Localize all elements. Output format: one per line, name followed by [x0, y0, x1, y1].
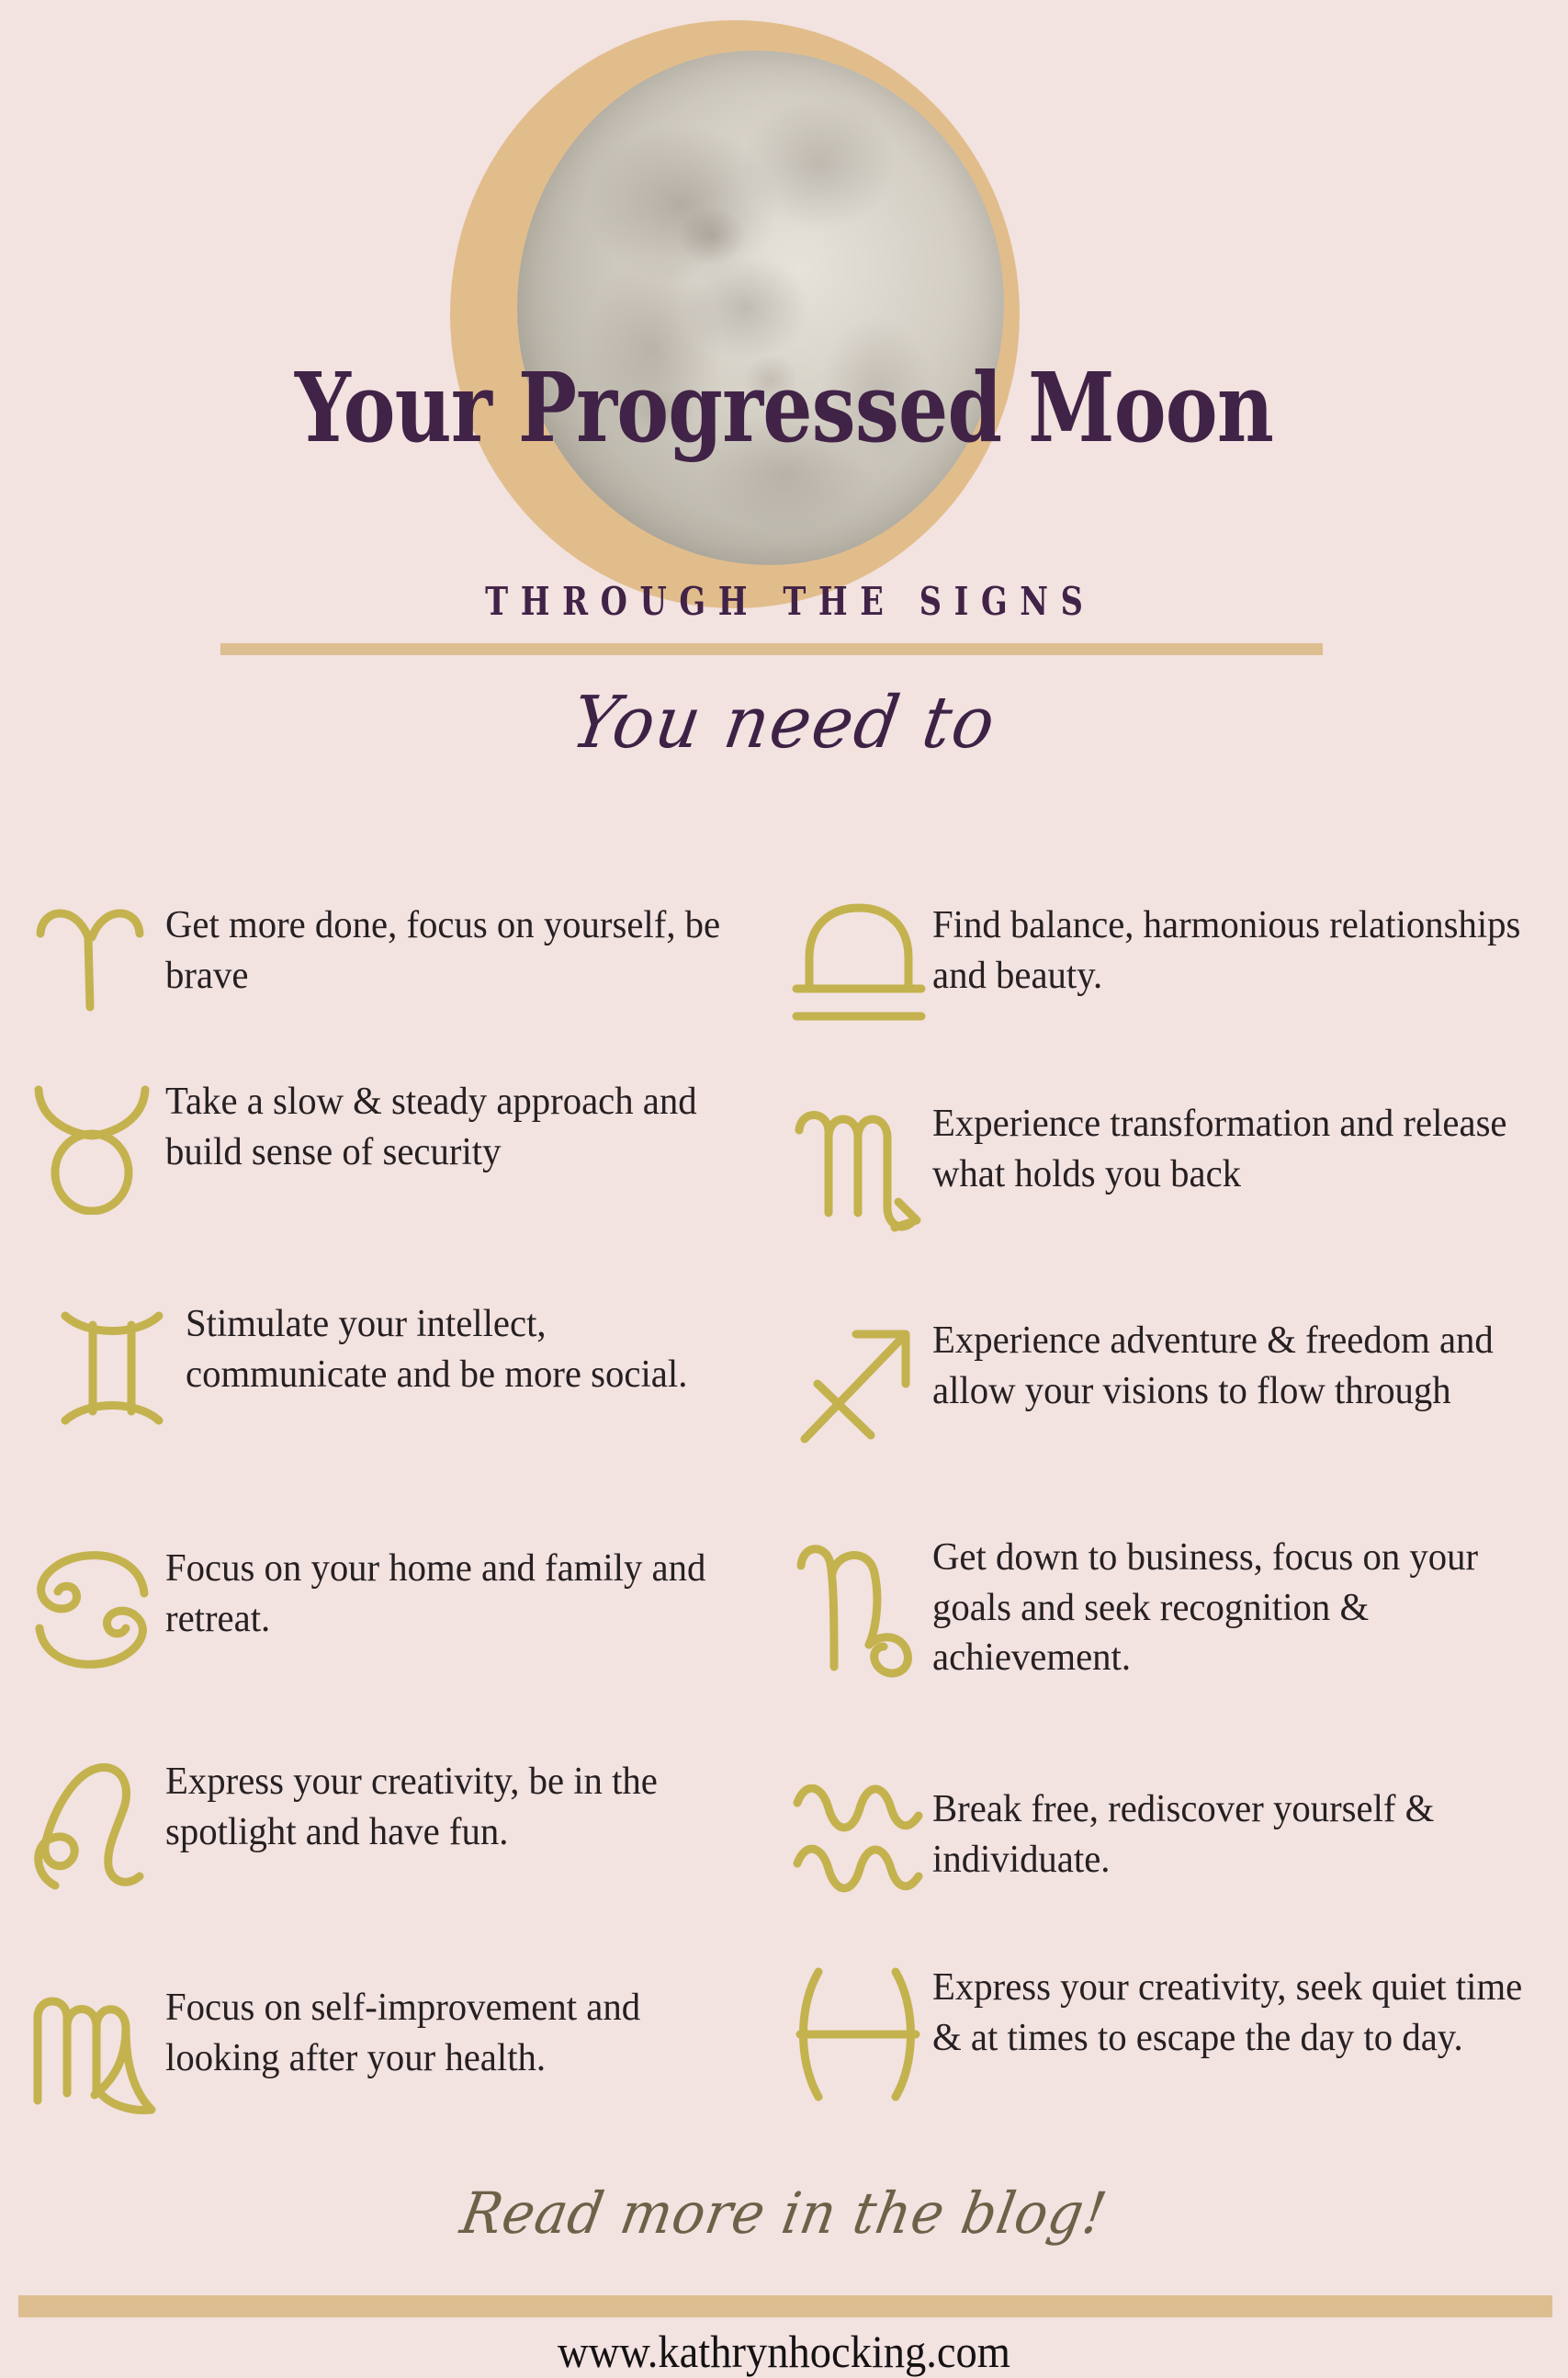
- list-item-label: Break free, rediscover yourself & indivi…: [932, 1784, 1529, 1885]
- aries-icon: [18, 900, 165, 1020]
- leo-icon: [18, 1757, 165, 1904]
- cancer-icon: [18, 1544, 165, 1677]
- list-item-label: Focus on self-improvement and looking af…: [165, 1983, 753, 2083]
- list-item-taurus: Take a slow & steady approach and build …: [18, 1077, 772, 1215]
- page-subtitle: THROUGH THE SIGNS: [157, 579, 1412, 624]
- list-item-pisces: Express your creativity, seek quiet time…: [785, 1963, 1548, 2105]
- list-item-label: Express your creativity, seek quiet time…: [932, 1963, 1529, 2063]
- list-item-scorpio: Experience transformation and release wh…: [785, 1099, 1548, 1246]
- list-item-label: Experience adventure & freedom and allow…: [932, 1316, 1529, 1416]
- pisces-icon: [785, 1963, 932, 2105]
- list-item-sagittarius: Experience adventure & freedom and allow…: [785, 1316, 1548, 1454]
- list-item-label: Experience transformation and release wh…: [932, 1099, 1529, 1199]
- hero-section: Your Progressed Moon THROUGH THE SIGNS Y…: [0, 0, 1568, 643]
- list-item-aquarius: Break free, rediscover yourself & indivi…: [785, 1784, 1548, 1913]
- gemini-icon: [39, 1299, 186, 1437]
- taurus-icon: [18, 1077, 165, 1215]
- list-item-label: Find balance, harmonious relationships a…: [932, 900, 1529, 1001]
- gold-divider: [220, 643, 1323, 655]
- list-item-label: Stimulate your intellect, communicate an…: [186, 1299, 756, 1399]
- sagittarius-icon: [785, 1316, 932, 1454]
- bottom-gold-bar: [18, 2295, 1552, 2317]
- zodiac-grid: Get more done, focus on yourself, be bra…: [0, 900, 1568, 2169]
- list-item-libra: Find balance, harmonious relationships a…: [785, 900, 1548, 1029]
- capricorn-icon: [785, 1533, 932, 1680]
- website-url[interactable]: www.kathrynhocking.com: [55, 2325, 1514, 2378]
- libra-icon: [785, 900, 932, 1029]
- blog-cta-text[interactable]: Read more in the blog!: [41, 2180, 1527, 2247]
- list-item-label: Take a slow & steady approach and build …: [165, 1077, 753, 1177]
- list-item-leo: Express your creativity, be in the spotl…: [18, 1757, 772, 1904]
- list-item-label: Get more done, focus on yourself, be bra…: [165, 900, 753, 1001]
- list-item-virgo: Focus on self-improvement and looking af…: [18, 1983, 772, 2121]
- list-item-label: Express your creativity, be in the spotl…: [165, 1757, 753, 1857]
- scorpio-icon: [785, 1099, 932, 1246]
- footer-section: Read more in the blog! www.kathrynhockin…: [0, 2169, 1568, 2352]
- virgo-icon: [18, 1983, 165, 2121]
- list-item-capricorn: Get down to business, focus on your goal…: [785, 1533, 1548, 1683]
- poster-canvas: Your Progressed Moon THROUGH THE SIGNS Y…: [0, 0, 1568, 2352]
- list-item-cancer: Focus on your home and family and retrea…: [18, 1544, 772, 1677]
- list-item-aries: Get more done, focus on yourself, be bra…: [18, 900, 772, 1020]
- list-item-label: Focus on your home and family and retrea…: [165, 1544, 753, 1644]
- aquarius-icon: [785, 1784, 932, 1913]
- page-title: Your Progressed Moon: [141, 360, 1427, 456]
- list-item-label: Get down to business, focus on your goal…: [932, 1533, 1529, 1683]
- list-item-gemini: Stimulate your intellect, communicate an…: [39, 1299, 773, 1437]
- script-lead-text: You need to: [33, 682, 1536, 764]
- watercolor-moon-icon: [517, 51, 1004, 565]
